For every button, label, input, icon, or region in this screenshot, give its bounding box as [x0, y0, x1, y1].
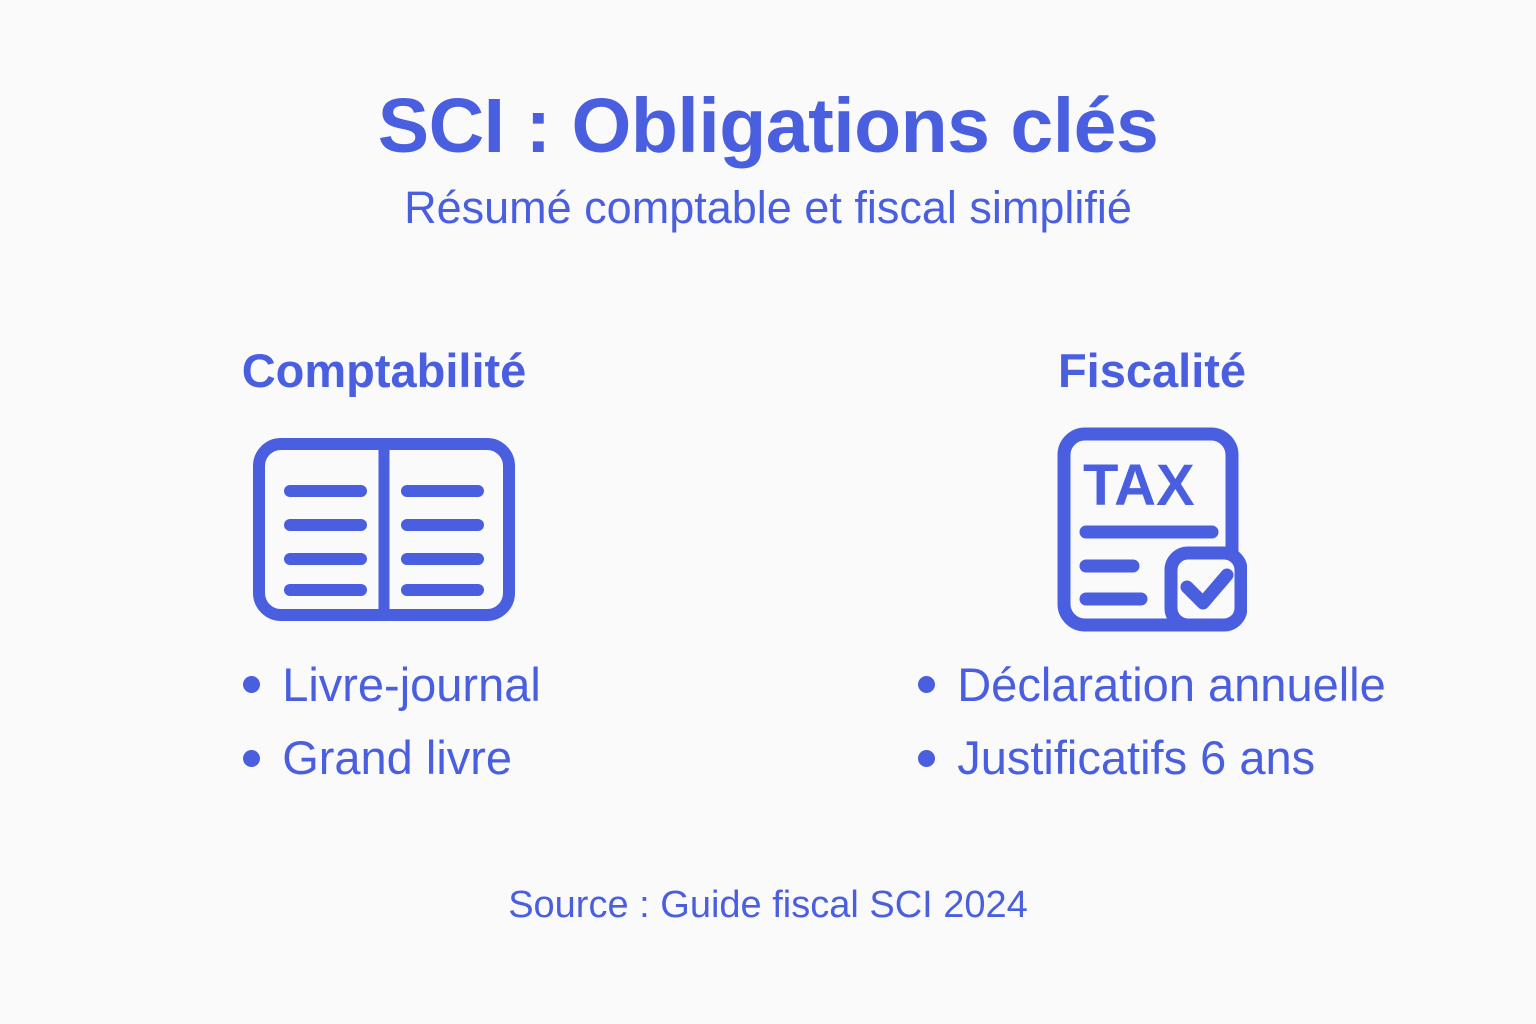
column-fiscalite: Fiscalité TAX [768, 345, 1536, 784]
list-item: Grand livre [243, 732, 541, 784]
tax-label: TAX [1083, 453, 1195, 518]
bullet-dot-icon [918, 676, 935, 693]
bullet-dot-icon [243, 750, 260, 767]
page-subtitle: Résumé comptable et fiscal simplifié [0, 183, 1536, 233]
icon-container-comptabilite [253, 425, 515, 635]
tax-document-check-icon: TAX [1057, 427, 1247, 632]
bullet-dot-icon [918, 750, 935, 767]
icon-container-fiscalite: TAX [1057, 425, 1247, 635]
open-book-icon [253, 438, 515, 621]
column-heading-fiscalite: Fiscalité [1058, 345, 1246, 397]
list-comptabilite: Livre-journal Grand livre [243, 659, 541, 784]
column-comptabilite: Comptabilité [0, 345, 768, 784]
list-item: Justificatifs 6 ans [918, 732, 1386, 784]
page-title: SCI : Obligations clés [0, 86, 1536, 167]
column-heading-comptabilite: Comptabilité [242, 345, 527, 397]
list-item: Livre-journal [243, 659, 541, 711]
list-item-label: Grand livre [282, 732, 512, 784]
source-caption: Source : Guide fiscal SCI 2024 [0, 884, 1536, 927]
bullet-dot-icon [243, 676, 260, 693]
columns-container: Comptabilité [0, 345, 1536, 784]
list-item: Déclaration annuelle [918, 659, 1386, 711]
list-item-label: Justificatifs 6 ans [957, 732, 1315, 784]
infographic-poster: SCI : Obligations clés Résumé comptable … [0, 0, 1536, 1024]
list-item-label: Déclaration annuelle [957, 659, 1386, 711]
list-item-label: Livre-journal [282, 659, 541, 711]
poster-header: SCI : Obligations clés Résumé comptable … [0, 86, 1536, 232]
list-fiscalite: Déclaration annuelle Justificatifs 6 ans [918, 659, 1386, 784]
